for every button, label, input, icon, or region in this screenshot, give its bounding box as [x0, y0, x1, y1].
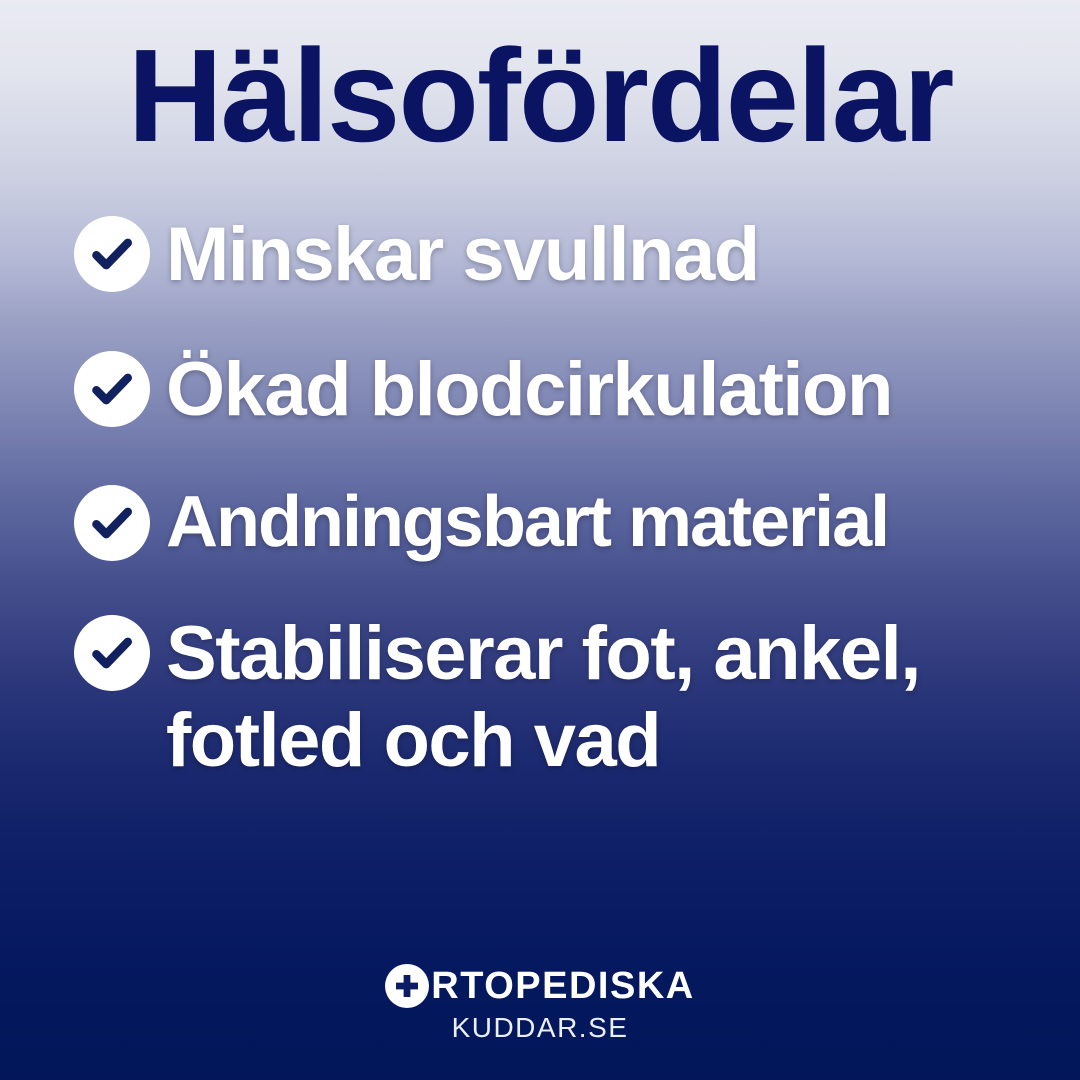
benefits-list: Minskar svullnad Ökad blodcirkulation An…: [74, 212, 1080, 785]
check-circle-icon: [74, 351, 150, 427]
check-circle-icon: [74, 216, 150, 292]
page-title-text: Hälsofördelar: [128, 30, 953, 162]
check-circle-icon: [74, 615, 150, 691]
medical-cross-circle-icon: [385, 964, 429, 1008]
list-item: Ökad blodcirkulation: [74, 347, 1080, 434]
list-item: Andningsbart material: [74, 481, 1080, 563]
page-title: Hälsofördelar: [0, 30, 1080, 162]
list-item-label: Ökad blodcirkulation: [166, 347, 1080, 434]
list-item-label: Andningsbart material: [166, 481, 1080, 563]
check-circle-icon: [74, 485, 150, 561]
list-item-label: Stabiliserar fot, ankel, fotled och vad: [166, 611, 1071, 784]
list-item: Minskar svullnad: [74, 212, 1080, 299]
poster-canvas: Hälsofördelar Minskar svullnad Ökad blod…: [0, 0, 1080, 1080]
brand-logo: RTOPEDISKA KUDDAR.SE: [0, 964, 1080, 1042]
brand-name: RTOPEDISKA: [431, 967, 694, 1005]
brand-domain: KUDDAR.SE: [0, 1014, 1080, 1042]
list-item-label: Minskar svullnad: [166, 212, 1080, 299]
brand-logo-row: RTOPEDISKA: [385, 964, 694, 1008]
list-item: Stabiliserar fot, ankel, fotled och vad: [74, 611, 1080, 784]
